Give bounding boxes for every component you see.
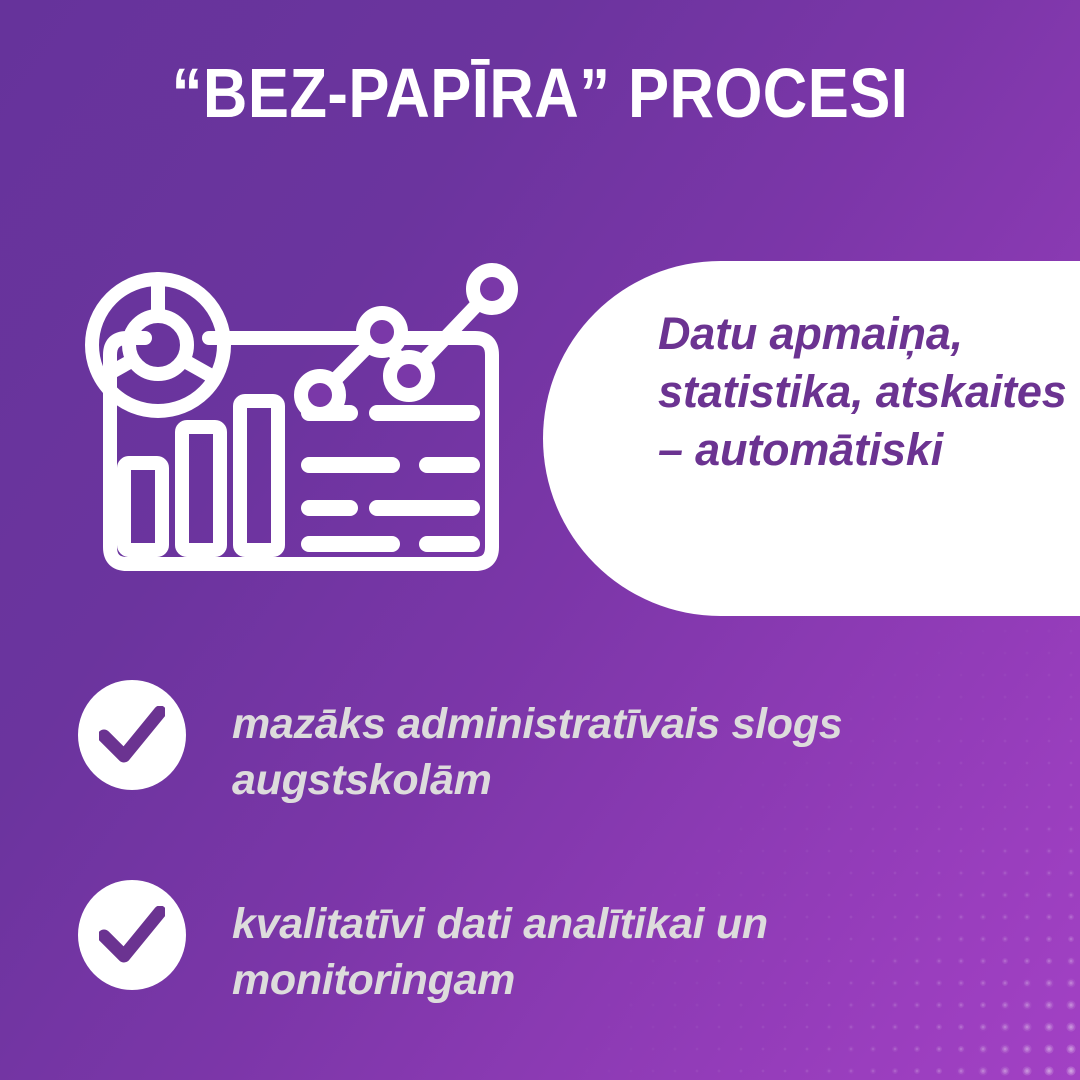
line-chart-node-1 bbox=[301, 376, 339, 414]
analytics-dashboard-icon bbox=[72, 262, 522, 592]
list-item: mazāks administratīvais slogs augstskolā… bbox=[78, 680, 878, 808]
page-title: “BEZ-PAPĪRA” PROCESI bbox=[65, 56, 1015, 130]
check-icon bbox=[99, 706, 165, 764]
line-chart-node-2 bbox=[363, 313, 401, 351]
check-badge bbox=[78, 880, 186, 990]
line-chart-node-3 bbox=[390, 357, 428, 395]
callout-text: Datu apmaiņa, statistika, atskaites – au… bbox=[658, 305, 1078, 479]
check-badge bbox=[78, 680, 186, 790]
list-item-label: kvalitatīvi dati analītikai un monitorin… bbox=[232, 896, 878, 1008]
infographic-canvas: “BEZ-PAPĪRA” PROCESI bbox=[0, 0, 1080, 1080]
callout-card: Datu apmaiņa, statistika, atskaites – au… bbox=[543, 261, 1080, 616]
analytics-dashboard-svg bbox=[72, 262, 522, 592]
list-item-label: mazāks administratīvais slogs augstskolā… bbox=[232, 696, 878, 808]
text-lines bbox=[309, 413, 472, 544]
list-item: kvalitatīvi dati analītikai un monitorin… bbox=[78, 880, 878, 1008]
donut-spoke-right bbox=[183, 360, 215, 378]
check-icon bbox=[99, 906, 165, 964]
bar-1 bbox=[124, 463, 162, 550]
bar-3 bbox=[240, 401, 278, 550]
line-chart-node-4 bbox=[473, 270, 511, 308]
bar-2 bbox=[182, 427, 220, 550]
